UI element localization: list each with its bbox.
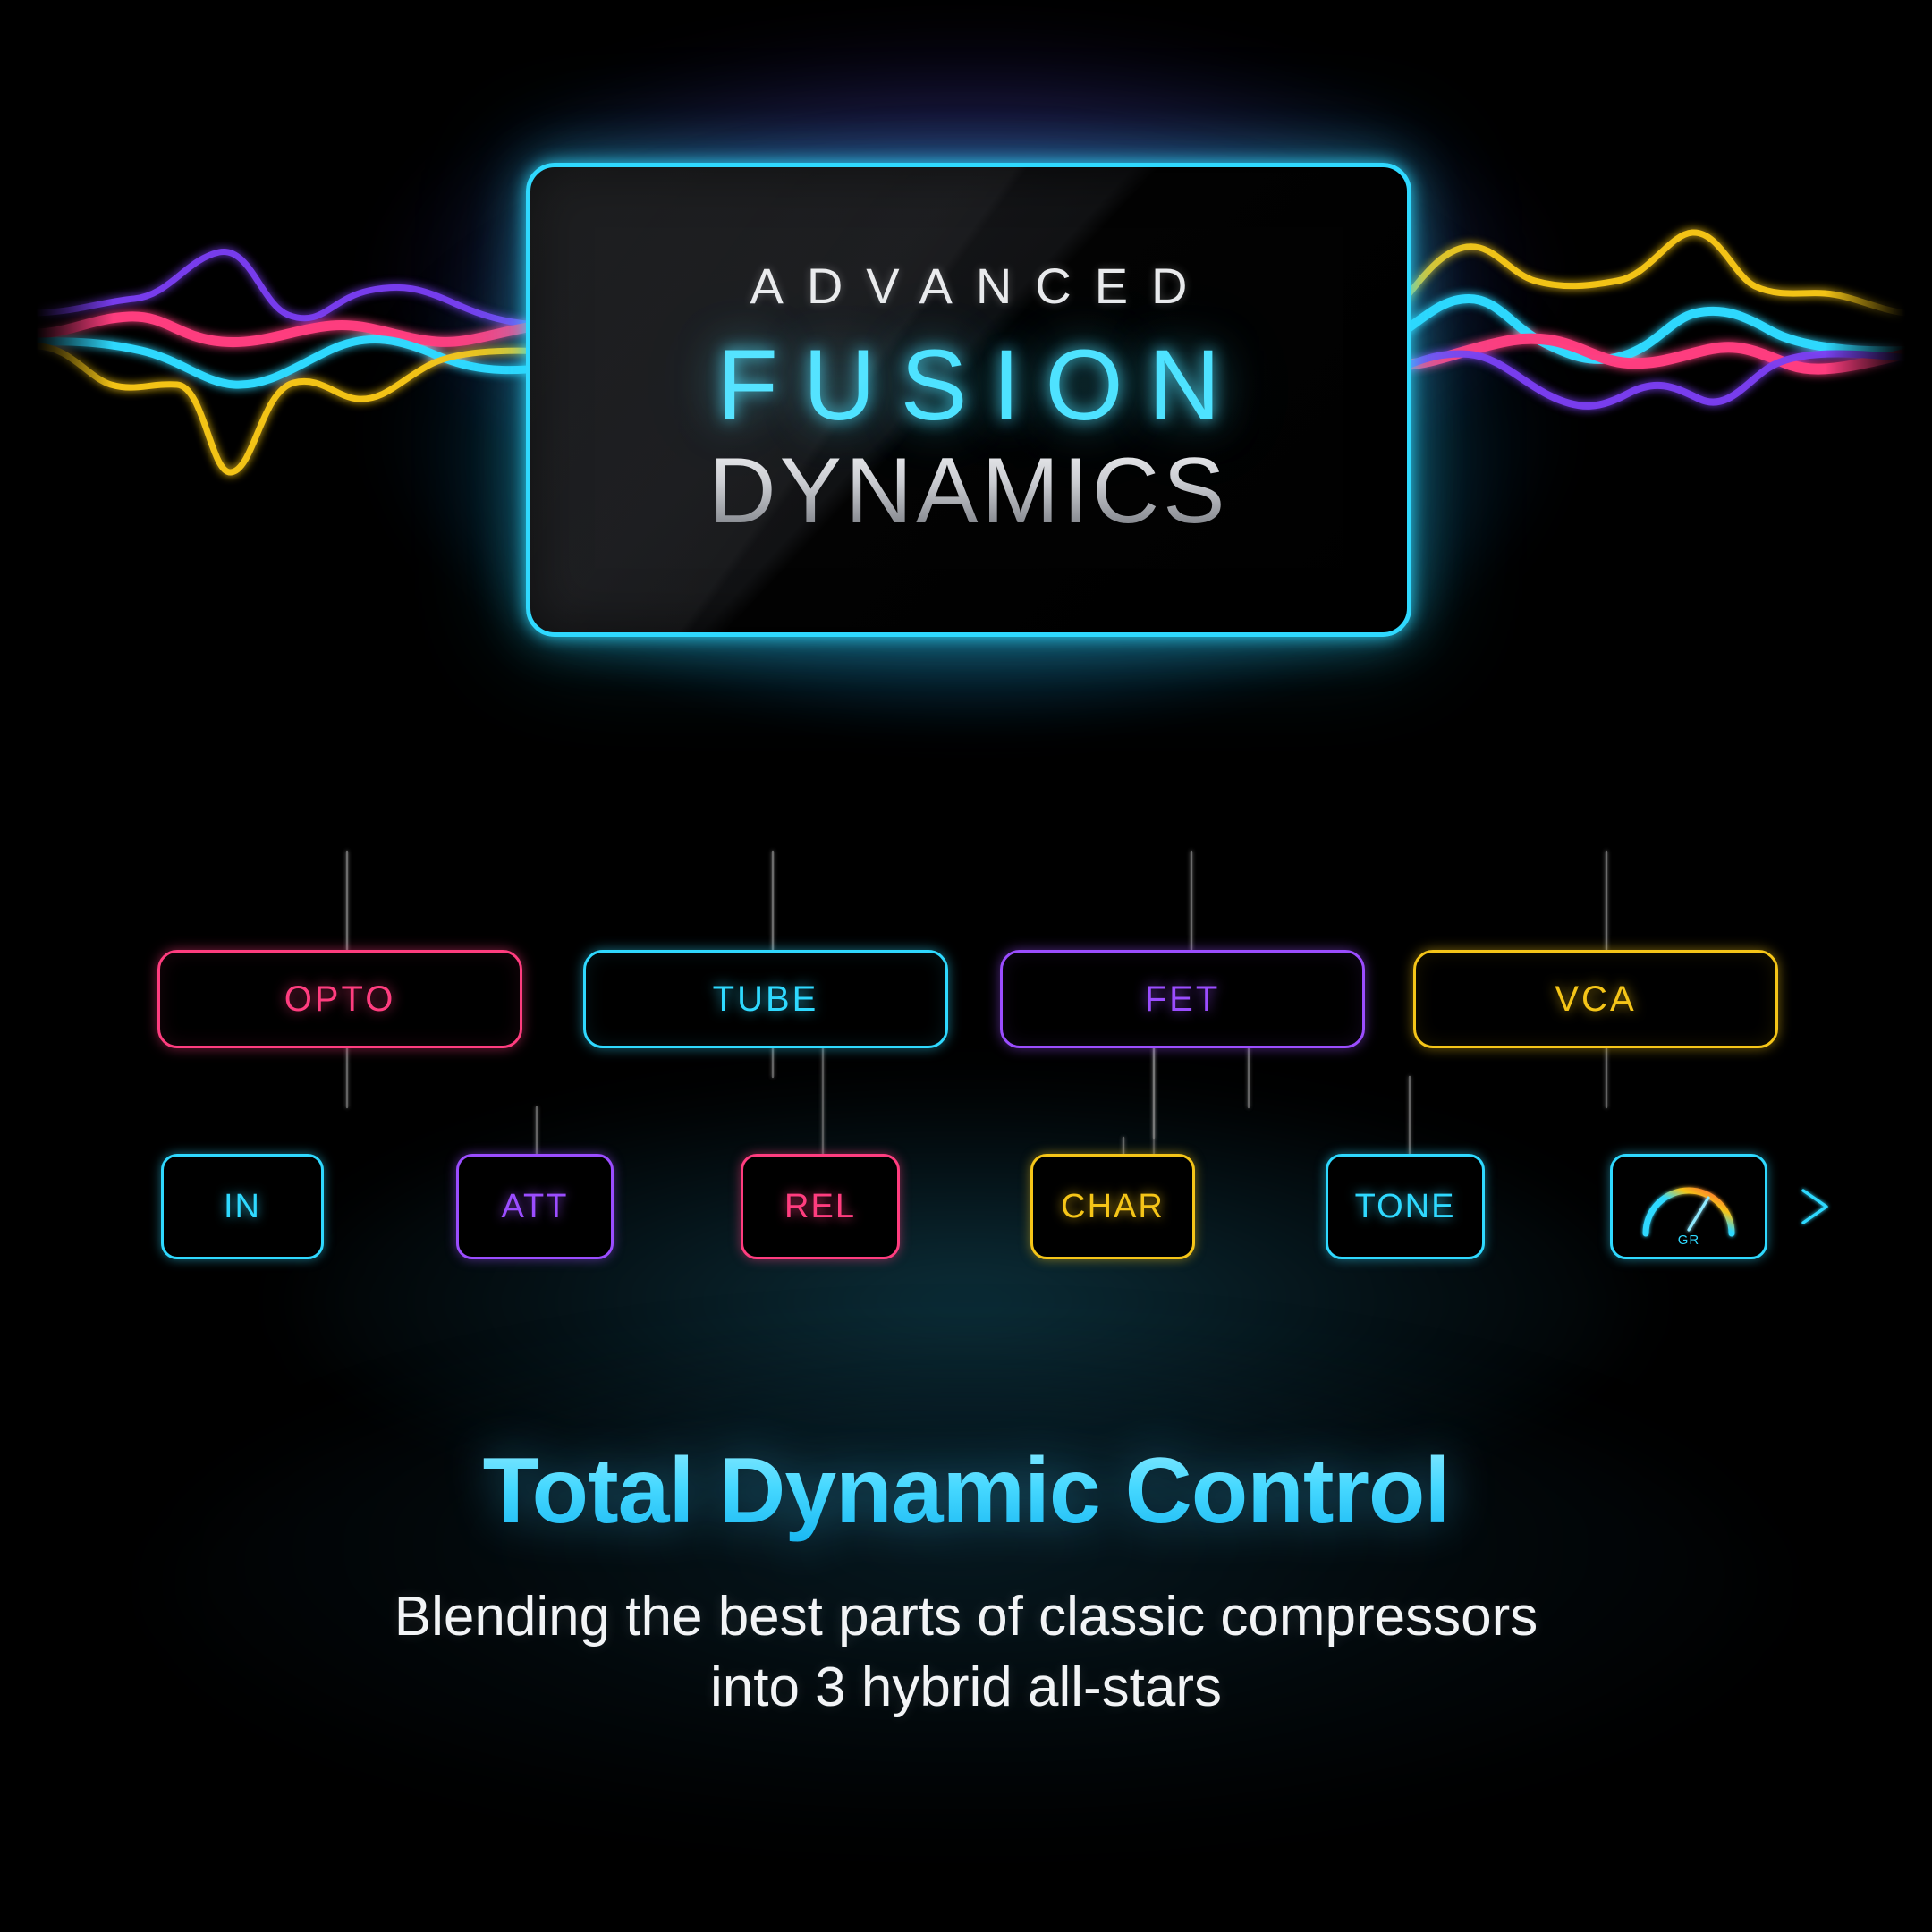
brand-eyebrow: ADVANCED: [726, 257, 1210, 315]
chain-box-att[interactable]: ATT: [456, 1154, 614, 1259]
chain-box-char[interactable]: CHAR: [1030, 1154, 1195, 1259]
chain-box-rel[interactable]: REL: [741, 1154, 900, 1259]
engine-box-vca[interactable]: VCA: [1413, 950, 1778, 1048]
engine-label-tube: TUBE: [713, 981, 819, 1017]
subcopy-line-2: into 3 hybrid all-stars: [0, 1652, 1932, 1723]
chain-label-in: IN: [224, 1190, 261, 1224]
page-subcopy: Blending the best parts of classic compr…: [0, 1581, 1932, 1724]
brand-wordmark: FUSION: [691, 333, 1245, 439]
chain-label-rel: REL: [784, 1190, 856, 1224]
gr-meter-label: GR: [1678, 1233, 1700, 1248]
chain-label-char: CHAR: [1061, 1190, 1165, 1224]
engine-label-fet: FET: [1145, 981, 1221, 1017]
chain-box-in[interactable]: IN: [161, 1154, 324, 1259]
engine-box-opto[interactable]: OPTO: [157, 950, 522, 1048]
engine-label-opto: OPTO: [284, 981, 396, 1017]
subcopy-line-1: Blending the best parts of classic compr…: [0, 1581, 1932, 1652]
waveform-left: [36, 206, 590, 581]
chain-box-gr-meter[interactable]: GR: [1610, 1154, 1767, 1259]
brand-subword: DYNAMICS: [709, 439, 1229, 543]
page-headline: Total Dynamic Control: [0, 1438, 1932, 1545]
engine-label-vca: VCA: [1555, 981, 1636, 1017]
chain-box-tone[interactable]: TONE: [1326, 1154, 1485, 1259]
engine-box-tube[interactable]: TUBE: [583, 950, 948, 1048]
engine-box-fet[interactable]: FET: [1000, 950, 1365, 1048]
brand-card: ADVANCED FUSION DYNAMICS: [526, 163, 1411, 637]
chain-label-att: ATT: [502, 1190, 569, 1224]
waveform-right: [1404, 206, 1905, 581]
poster-canvas: ADVANCED FUSION DYNAMICS: [0, 0, 1932, 1932]
output-arrow-head: [1803, 1191, 1826, 1223]
chain-label-tone: TONE: [1355, 1190, 1456, 1224]
gain-reduction-gauge-icon: GR: [1626, 1164, 1751, 1250]
